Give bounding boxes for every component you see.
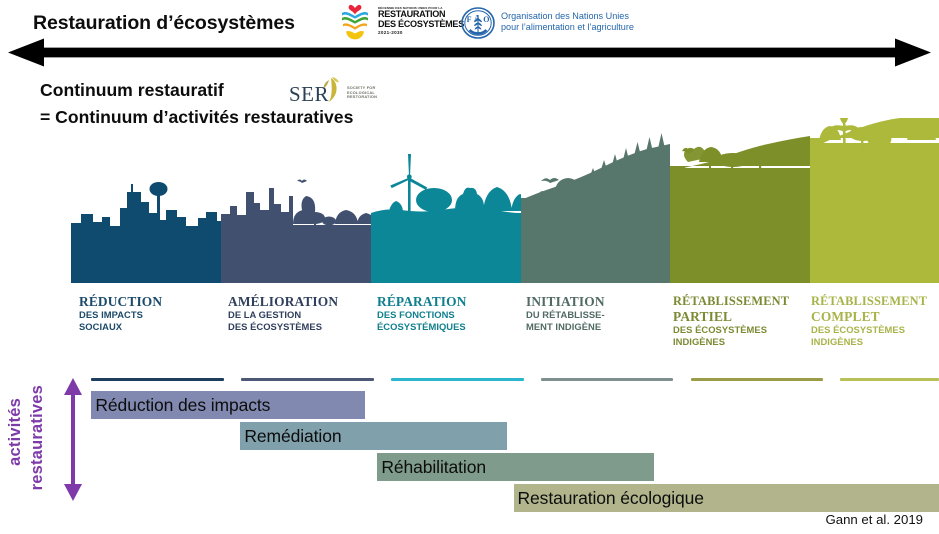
stage-underline-1 (91, 378, 224, 381)
source-citation: Gann et al. 2019 (825, 512, 923, 527)
band-caption-2: AMÉLIORATION DE LA GESTION DES ÉCOSYSTÈM… (228, 294, 338, 334)
ser-tagline: SOCIETY FOR ECOLOGICAL RESTORATION (347, 86, 377, 100)
fao-line1: Organisation des Nations Unies (501, 11, 634, 22)
activity-bar-2[interactable]: Remédiation (240, 422, 506, 450)
band-caption-4: INITIATION DU RÉTABLISSE- MENT INDIGÈNE (526, 294, 605, 334)
ser-logo: SER SOCIETY FOR ECOLOGICAL RESTORATION (285, 76, 390, 108)
ser-tagline-3: RESTORATION (347, 95, 377, 100)
band-3-reparation (371, 154, 530, 283)
svg-text:F: F (467, 15, 472, 24)
activity-bar-label: Restauration écologique (514, 488, 704, 509)
axis-label-restauratives: restauratives (28, 385, 47, 490)
band-5-retablissement-partiel (670, 136, 821, 283)
band-caption-5: RÉTABLISSEMENT PARTIEL DES ÉCOSYSTÈMES I… (673, 294, 789, 349)
un-decade-wordmark: DÉCENNIE DES NATIONS UNIES POUR LA RESTA… (378, 6, 466, 35)
stage-underline-6 (840, 378, 939, 381)
band-1-reduction (71, 182, 223, 283)
fao-wordmark: Organisation des Nations Unies pour l’al… (501, 11, 634, 34)
stage-underline-3 (391, 378, 524, 381)
activity-bar-1[interactable]: Réduction des impacts (91, 391, 364, 419)
un-decade-line2b: DES ÉCOSYSTÈMES (378, 20, 466, 30)
vertical-double-arrow-icon (62, 378, 84, 501)
activity-bar-label: Réduction des impacts (91, 395, 270, 416)
svg-text:O: O (483, 15, 489, 24)
page-title: Restauration d’écosystèmes (33, 12, 295, 35)
continuum-double-arrow-icon (8, 38, 931, 67)
fao-seal-icon: F A O (461, 6, 495, 40)
ser-acronym: SER (289, 82, 329, 107)
band-2-amelioration (221, 180, 376, 284)
band-caption-1: RÉDUCTION DES IMPACTS SOCIAUX (79, 294, 162, 334)
activity-bar-4[interactable]: Restauration écologique (514, 484, 939, 512)
activity-bar-3[interactable]: Réhabilitation (377, 453, 654, 481)
band-captions: RÉDUCTION DES IMPACTS SOCIAUX AMÉLIORATI… (71, 283, 939, 368)
activity-bar-label: Remédiation (240, 426, 341, 447)
axis-label-activites: activités (6, 398, 25, 466)
slide-canvas: Restauration d’écosystèmes DÉCENNIE DES … (0, 0, 939, 534)
stage-underline-4 (541, 378, 674, 381)
fao-line2: pour l’alimentation et l’agriculture (501, 22, 634, 33)
stage-underline-2 (241, 378, 374, 381)
band-caption-6: RÉTABLISSEMENT COMPLET DES ÉCOSYSTÈMES I… (811, 294, 927, 349)
stage-underline-5 (691, 378, 824, 381)
un-decade-years: 2021-2030 (378, 30, 466, 35)
activity-bar-label: Réhabilitation (377, 457, 486, 478)
subtitle-line-1: Continuum restauratif (40, 80, 224, 101)
band-caption-3: RÉPARATION DES FONCTIONS ÉCOSYSTÉMIQUES (377, 294, 467, 334)
un-decade-mark-icon (336, 4, 374, 42)
band-4-initiation (521, 133, 670, 283)
ecosystem-continuum-graphic (71, 118, 939, 283)
un-decade-logo: DÉCENNIE DES NATIONS UNIES POUR LA RESTA… (336, 3, 464, 43)
band-6-retablissement-complet (810, 118, 939, 283)
